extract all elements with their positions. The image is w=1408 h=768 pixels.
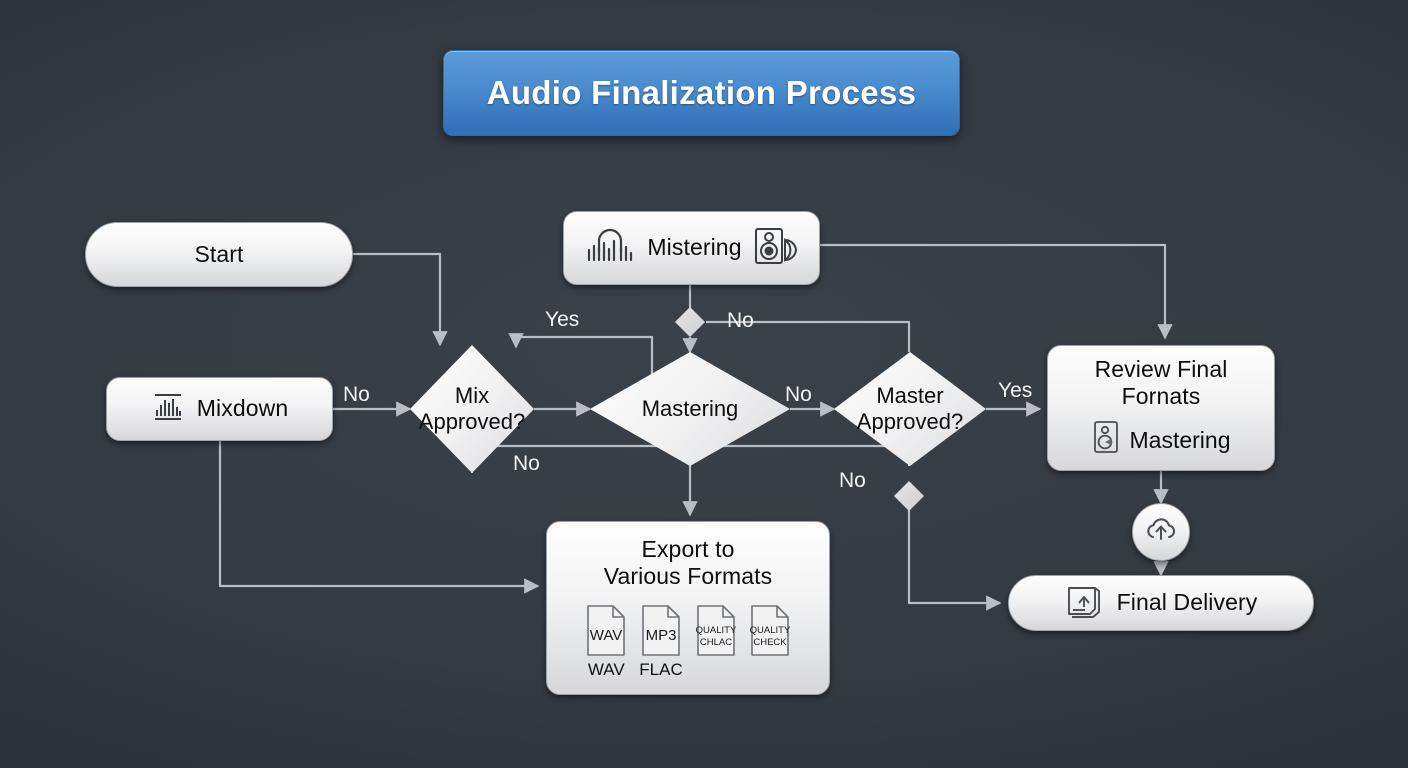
node-final-delivery[interactable]: Final Delivery	[1008, 575, 1314, 631]
page-title-text: Audio Finalization Process	[487, 74, 917, 112]
equalizer-bars-icon	[151, 391, 185, 428]
node-start-label: Start	[194, 241, 243, 268]
node-final-delivery-label: Final Delivery	[1117, 589, 1258, 616]
node-review-sub-label: Mastering	[1130, 427, 1231, 454]
node-mistering-label: Mistering	[647, 234, 741, 261]
file-badge-line1: QUALITY	[695, 625, 736, 636]
edge-start-to-mix-approved	[352, 254, 440, 345]
file-caption: WAV	[588, 660, 625, 680]
file-badge-text: WAV	[590, 627, 623, 644]
node-mistering[interactable]: Mistering	[563, 211, 820, 285]
file-caption: FLAC	[639, 660, 682, 680]
file-icon: QUALITY CHLAC	[695, 604, 737, 658]
file-item: QUALITY CHLAC	[695, 604, 737, 660]
edge-label-mixdown-no: No	[343, 383, 370, 407]
edge-label-mastering-no: No	[785, 383, 812, 407]
file-badge-line2: CHLAC	[700, 637, 732, 648]
edge-master-approved-junction	[909, 497, 1000, 603]
edge-label-master-approved-no: No	[839, 469, 866, 493]
node-review-final-formats[interactable]: Review Final Fornats Mastering	[1047, 345, 1275, 471]
export-file-list: WAV WAV MP3 FLAC QUALI	[585, 604, 790, 680]
edge-label-master-approved-yes: Yes	[998, 379, 1032, 403]
cloud-upload-icon	[1144, 515, 1178, 550]
node-export-formats[interactable]: Export to Various Formats WAV WAV MP3	[546, 521, 830, 695]
edge-label-mastering-branch-no: No	[727, 309, 754, 333]
page-title: Audio Finalization Process	[443, 50, 960, 136]
node-review-label: Review Final Fornats	[1095, 356, 1228, 410]
studio-monitor-speaker-icon	[752, 224, 800, 273]
headphones-waveform-icon	[583, 224, 637, 273]
node-mastering-decision[interactable]: Mastering	[590, 352, 790, 466]
file-badge-line1: QUALITY	[749, 625, 790, 636]
document-upload-icon	[1065, 583, 1103, 624]
edge-mistering-to-review	[820, 245, 1165, 338]
file-item: MP3 FLAC	[639, 604, 682, 680]
node-start[interactable]: Start	[85, 222, 353, 287]
node-mixdown[interactable]: Mixdown	[106, 377, 333, 441]
file-icon: QUALITY CHECK	[749, 604, 791, 658]
file-icon: MP3	[640, 604, 682, 658]
file-item: WAV WAV	[585, 604, 627, 680]
file-item: QUALITY CHECK	[749, 604, 791, 660]
node-master-approved-label: Master Approved?	[857, 383, 963, 434]
file-icon: WAV	[585, 604, 627, 658]
node-export-label: Export to Various Formats	[604, 536, 773, 590]
edge-label-mix-approved-no: No	[513, 452, 540, 476]
node-master-approved[interactable]: Master Approved?	[834, 352, 986, 466]
studio-monitor-speaker-icon	[1092, 420, 1120, 460]
node-mixdown-label: Mixdown	[197, 395, 288, 422]
node-mix-approved-label: Mix Approved?	[419, 383, 525, 434]
file-badge-line2: CHECK	[753, 637, 787, 648]
node-mastering-label: Mastering	[642, 396, 739, 422]
file-badge-text: MP3	[646, 627, 677, 644]
edge-label-mix-approved-yes: Yes	[545, 308, 579, 332]
node-cloud-upload[interactable]	[1132, 503, 1190, 561]
flowchart-canvas: Audio Finalization Process Start	[0, 0, 1408, 768]
